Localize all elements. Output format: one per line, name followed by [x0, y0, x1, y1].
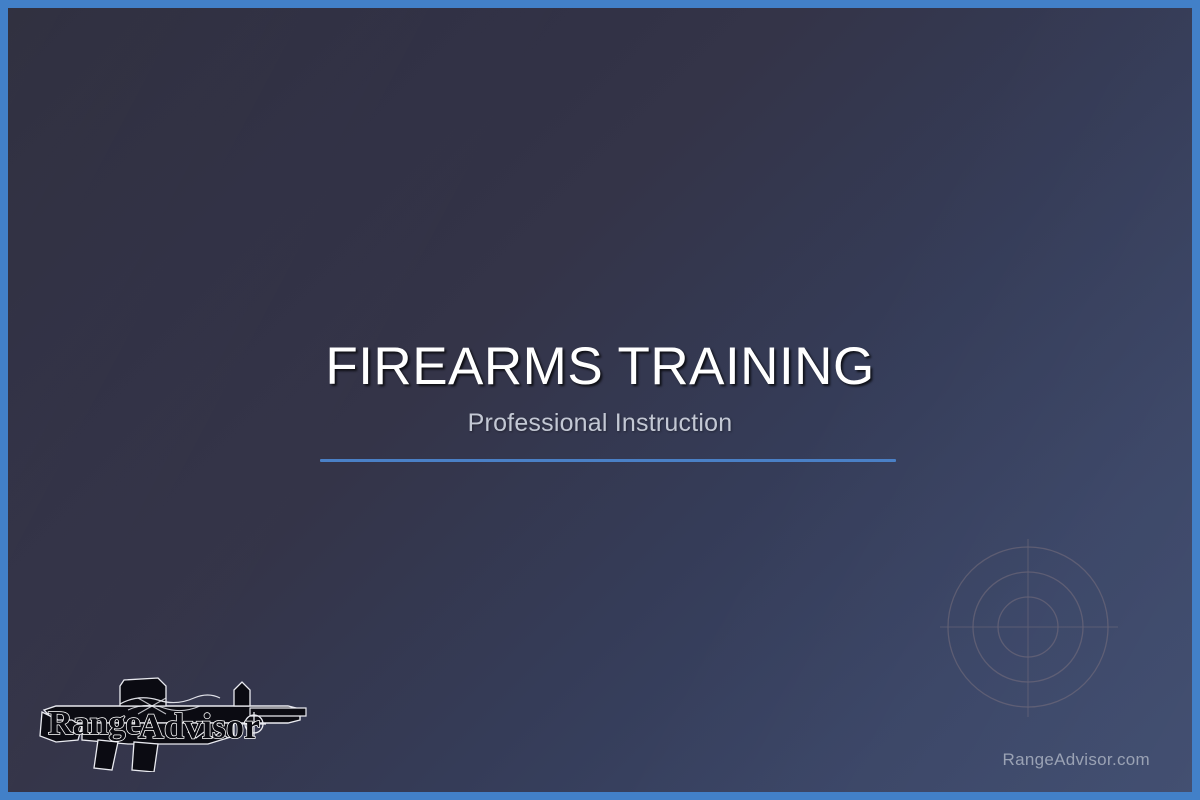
logo-wordmark-range: Range — [48, 705, 141, 742]
footer-url: RangeAdvisor.com — [1003, 750, 1150, 770]
page-subtitle: Professional Instruction — [8, 409, 1192, 438]
page-title: FIREARMS TRAINING — [8, 338, 1192, 395]
logo-wordmark-advisor: Advisor — [138, 706, 260, 746]
slide-frame: FIREARMS TRAINING Professional Instructi… — [0, 0, 1200, 800]
title-block: FIREARMS TRAINING Professional Instructi… — [8, 338, 1192, 438]
accent-divider — [320, 459, 896, 462]
rangeadvisor-rifle-logo: Range Advisor — [38, 676, 314, 772]
